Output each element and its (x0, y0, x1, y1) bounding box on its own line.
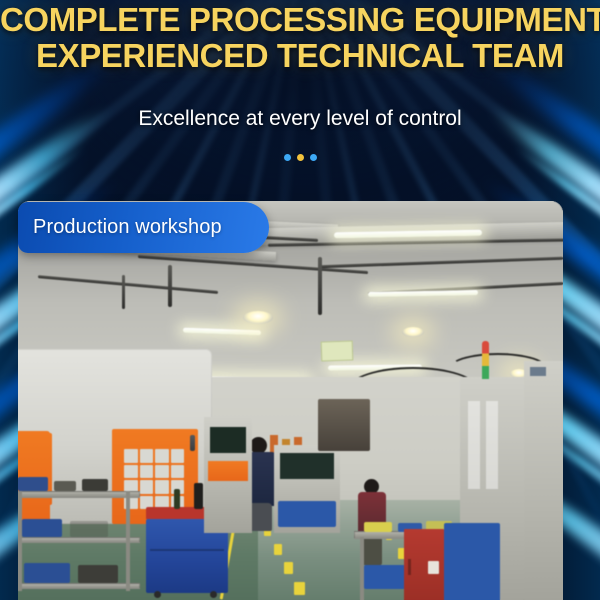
headline-line-2: EXPERIENCED TECHNICAL TEAM (0, 38, 600, 74)
badge-label: Production workshop (18, 216, 222, 239)
workshop-photo (18, 201, 563, 600)
photo-caption-badge[interactable]: Production workshop (18, 202, 269, 253)
dot-separator (0, 154, 600, 161)
dot-right-icon (310, 154, 317, 161)
promo-banner: COMPLETE PROCESSING EQUIPMENT EXPERIENCE… (0, 0, 600, 600)
subtitle: Excellence at every level of control (0, 106, 600, 132)
dot-left-icon (284, 154, 291, 161)
dot-center-icon (297, 154, 304, 161)
headline-line-1: COMPLETE PROCESSING EQUIPMENT (0, 2, 600, 38)
headline: COMPLETE PROCESSING EQUIPMENT EXPERIENCE… (0, 2, 600, 74)
